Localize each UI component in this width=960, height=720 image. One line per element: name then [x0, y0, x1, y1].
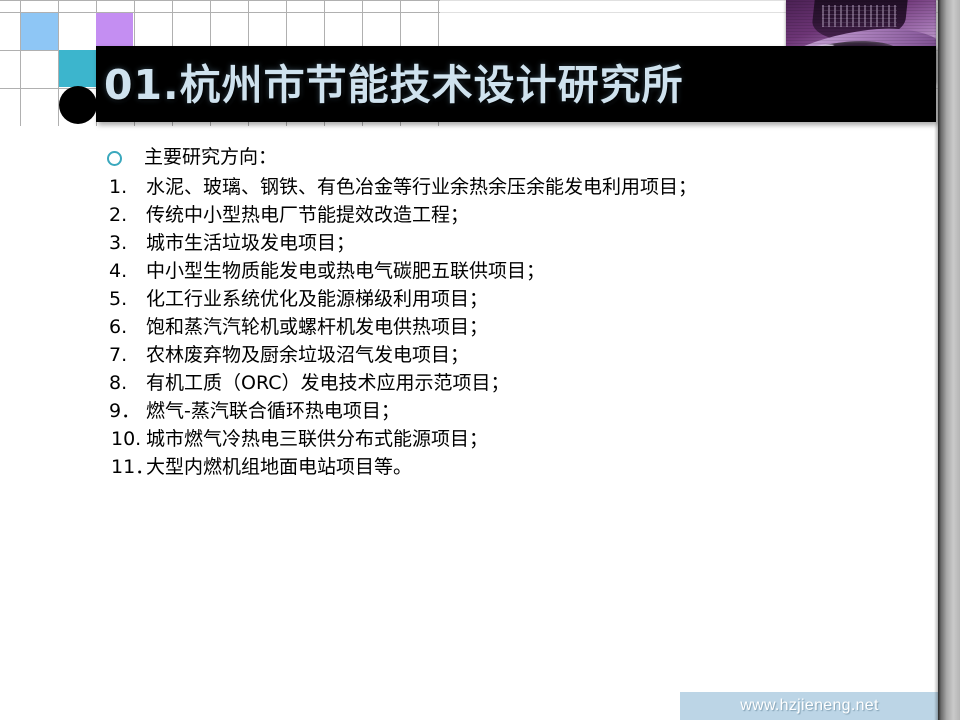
list-item-number: 6.	[100, 316, 146, 338]
circle-ring-icon	[107, 151, 122, 166]
list-item: 3. 城市生活垃圾发电项目；	[100, 228, 900, 256]
list-item-number: 5.	[100, 288, 146, 310]
list-item-text: 中小型生物质能发电或热电气碳肥五联供项目；	[146, 256, 900, 283]
list-item: 5. 化工行业系统优化及能源梯级利用项目；	[100, 284, 900, 312]
list-item-text: 城市生活垃圾发电项目；	[146, 228, 900, 255]
list-item: 8. 有机工质（ORC）发电技术应用示范项目；	[100, 368, 900, 396]
list-item-text: 传统中小型热电厂节能提效改造工程；	[146, 200, 900, 227]
content-body: 主要研究方向： 1. 水泥、玻璃、钢铁、有色冶金等行业余热余压余能发电利用项目；…	[100, 144, 900, 480]
lead-row: 主要研究方向：	[100, 144, 900, 172]
list-item: 9． 燃气-蒸汽联合循环热电项目；	[100, 396, 900, 424]
list-item-text: 燃气-蒸汽联合循环热电项目；	[146, 396, 900, 423]
list-item-number: 4.	[100, 260, 146, 282]
slide-canvas: 01.杭州市节能技术设计研究所 主要研究方向： 1. 水泥、玻璃、钢铁、有色冶金…	[0, 0, 960, 720]
list-item: 11． 大型内燃机组地面电站项目等。	[100, 452, 900, 480]
list-item-number: 11．	[100, 452, 146, 479]
list-item: 6. 饱和蒸汽汽轮机或螺杆机发电供热项目；	[100, 312, 900, 340]
list-item-number: 1.	[100, 176, 146, 198]
list-item: 1. 水泥、玻璃、钢铁、有色冶金等行业余热余压余能发电利用项目；	[100, 172, 900, 200]
list-item: 2. 传统中小型热电厂节能提效改造工程；	[100, 200, 900, 228]
right-edge-gutter	[938, 0, 960, 720]
list-item-text: 有机工质（ORC）发电技术应用示范项目；	[146, 368, 900, 395]
list-item-number: 7.	[100, 344, 146, 366]
list-item-text: 农林废弃物及厨余垃圾沼气发电项目；	[146, 340, 900, 367]
list-item: 7. 农林废弃物及厨余垃圾沼气发电项目；	[100, 340, 900, 368]
list-item-text: 饱和蒸汽汽轮机或螺杆机发电供热项目；	[146, 312, 900, 339]
list-item-text: 城市燃气冷热电三联供分布式能源项目；	[146, 424, 900, 451]
decor-square-teal	[59, 50, 96, 87]
list-item-text: 水泥、玻璃、钢铁、有色冶金等行业余热余压余能发电利用项目；	[146, 172, 900, 199]
lead-label: 主要研究方向：	[144, 144, 277, 170]
footer-url-text: www.hzjieneng.net	[680, 692, 939, 720]
list-item: 10. 城市燃气冷热电三联供分布式能源项目；	[100, 424, 900, 452]
decor-circle-black	[59, 86, 97, 124]
page-title: 01.杭州市节能技术设计研究所	[104, 52, 934, 118]
list-item-text: 大型内燃机组地面电站项目等。	[146, 452, 900, 479]
footer-url-bar: www.hzjieneng.net	[680, 692, 939, 720]
list-item-number: 10.	[100, 428, 146, 450]
research-direction-list: 1. 水泥、玻璃、钢铁、有色冶金等行业余热余压余能发电利用项目； 2. 传统中小…	[100, 172, 900, 480]
list-item-number: 8.	[100, 372, 146, 394]
list-item-number: 2.	[100, 204, 146, 226]
list-item-number: 9．	[100, 396, 146, 423]
list-item: 4. 中小型生物质能发电或热电气碳肥五联供项目；	[100, 256, 900, 284]
decor-square-blue	[21, 13, 58, 50]
decor-square-purple	[96, 13, 133, 50]
list-item-number: 3.	[100, 232, 146, 254]
list-item-text: 化工行业系统优化及能源梯级利用项目；	[146, 284, 900, 311]
